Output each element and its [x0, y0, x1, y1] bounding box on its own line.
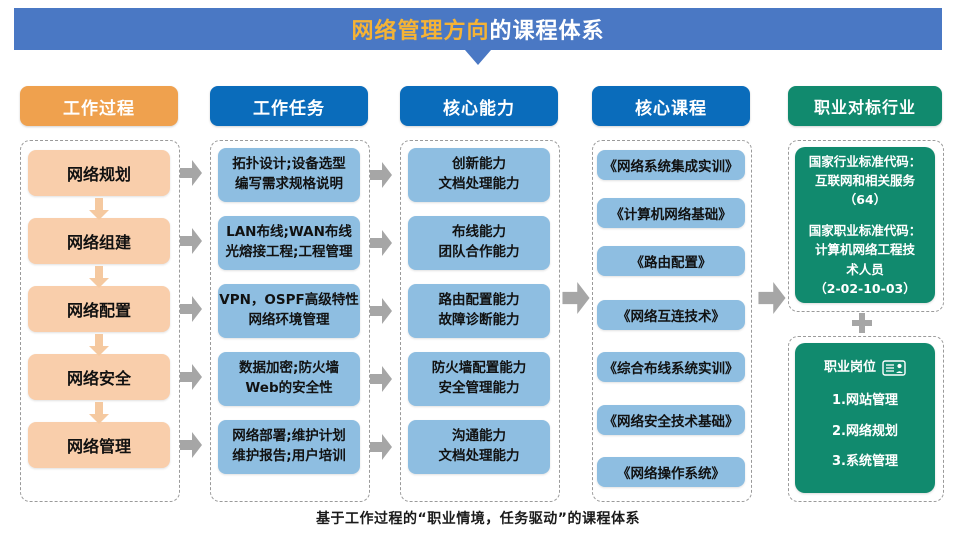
job-position-item: 3.系统管理: [832, 453, 898, 471]
core-ability-line1: 防火墙配置能力: [432, 359, 527, 379]
flow-arrow-icon: [370, 366, 392, 392]
flow-arrow-icon: [180, 364, 202, 390]
job-positions-box[interactable]: 职业岗位 1.网站管理 2.网络规划 3.系统管理: [795, 343, 935, 493]
core-ability-item[interactable]: 布线能力 团队合作能力: [408, 216, 550, 270]
plus-icon: [852, 313, 872, 333]
flow-arrow-icon: [180, 296, 202, 322]
work-task-item[interactable]: LAN布线;WAN布线 光熔接工程;工程管理: [218, 216, 360, 270]
flow-arrow-icon: [370, 162, 392, 188]
work-task-item[interactable]: 拓扑设计;设备选型 编写需求规格说明: [218, 148, 360, 202]
column-header-work-process[interactable]: 工作过程: [20, 86, 178, 126]
core-course-item[interactable]: 《计算机网络基础》: [597, 198, 745, 228]
work-task-line2: Web的安全性: [245, 379, 332, 399]
column-header-work-tasks[interactable]: 工作任务: [210, 86, 368, 126]
work-process-item[interactable]: 网络规划: [28, 150, 170, 196]
diagram-canvas: 网络管理方向的课程体系 工作过程 工作任务 核心能力 核心课程 职业对标行业 网…: [0, 0, 956, 536]
core-course-item[interactable]: 《网络操作系统》: [597, 457, 745, 487]
core-ability-line2: 故障诊断能力: [439, 311, 520, 331]
job-position-item: 2.网络规划: [832, 423, 898, 441]
flow-arrow-icon: [180, 160, 202, 186]
core-ability-item[interactable]: 防火墙配置能力 安全管理能力: [408, 352, 550, 406]
core-ability-item[interactable]: 路由配置能力 故障诊断能力: [408, 284, 550, 338]
occupation-code-label: 国家职业标准代码：: [809, 221, 922, 240]
flow-arrow-icon: [180, 228, 202, 254]
process-down-arrow-icon: [89, 334, 109, 356]
core-course-item[interactable]: 《网络互连技术》: [597, 300, 745, 330]
work-task-item[interactable]: 网络部署;维护计划 维护报告;用户培训: [218, 420, 360, 474]
work-task-line1: VPN，OSPF高级特性: [219, 291, 358, 311]
core-course-item[interactable]: 《综合布线系统实训》: [597, 352, 745, 382]
work-task-line1: 数据加密;防火墙: [239, 359, 339, 379]
title-highlight: 网络管理方向: [351, 19, 489, 44]
work-task-line1: 网络部署;维护计划: [232, 427, 345, 447]
flow-arrow-icon: [180, 432, 202, 458]
core-ability-line2: 团队合作能力: [439, 243, 520, 263]
process-down-arrow-icon: [89, 198, 109, 220]
core-ability-line2: 安全管理能力: [439, 379, 520, 399]
core-ability-item[interactable]: 沟通能力 文档处理能力: [408, 420, 550, 474]
core-ability-line1: 路由配置能力: [439, 291, 520, 311]
industry-code-label: 国家行业标准代码：: [809, 152, 922, 171]
work-task-line2: 光熔接工程;工程管理: [226, 243, 353, 263]
process-down-arrow-icon: [89, 402, 109, 424]
flow-arrow-icon: [370, 434, 392, 460]
column-header-core-courses[interactable]: 核心课程: [592, 86, 750, 126]
flow-arrow-icon: [370, 230, 392, 256]
occupation-code-value: （2-02-10-03）: [814, 279, 915, 298]
core-course-item[interactable]: 《网络系统集成实训》: [597, 150, 745, 180]
work-task-line2: 编写需求规格说明: [235, 175, 343, 195]
core-ability-line1: 沟通能力: [452, 427, 506, 447]
industry-code-value: （64）: [844, 190, 886, 209]
work-task-item[interactable]: 数据加密;防火墙 Web的安全性: [218, 352, 360, 406]
job-positions-title: 职业岗位: [824, 359, 876, 377]
title-banner: 网络管理方向的课程体系: [14, 8, 942, 50]
core-ability-line1: 创新能力: [452, 155, 506, 175]
core-ability-line2: 文档处理能力: [439, 447, 520, 467]
column-header-core-abilities[interactable]: 核心能力: [400, 86, 558, 126]
flow-arrow-icon-large: [562, 282, 590, 314]
occupation-code-name-line2: 术人员: [846, 260, 884, 279]
core-course-item[interactable]: 《网络安全技术基础》: [597, 405, 745, 435]
flow-arrow-icon: [370, 298, 392, 324]
process-down-arrow-icon: [89, 266, 109, 288]
id-badge-icon: [882, 360, 906, 376]
core-course-item[interactable]: 《路由配置》: [597, 246, 745, 276]
industry-code-name: 互联网和相关服务: [815, 171, 915, 190]
work-process-item[interactable]: 网络安全: [28, 354, 170, 400]
title-rest: 的课程体系: [490, 19, 605, 44]
page-title: 网络管理方向的课程体系: [351, 13, 604, 45]
work-task-line2: 维护报告;用户培训: [232, 447, 345, 467]
core-ability-item[interactable]: 创新能力 文档处理能力: [408, 148, 550, 202]
work-process-item[interactable]: 网络配置: [28, 286, 170, 332]
job-position-item: 1.网站管理: [832, 392, 898, 410]
work-task-line1: LAN布线;WAN布线: [226, 223, 352, 243]
core-ability-line2: 文档处理能力: [439, 175, 520, 195]
core-ability-line1: 布线能力: [452, 223, 506, 243]
work-task-line2: 网络环境管理: [249, 311, 330, 331]
work-task-line1: 拓扑设计;设备选型: [232, 155, 345, 175]
work-task-item[interactable]: VPN，OSPF高级特性 网络环境管理: [218, 284, 360, 338]
banner-down-arrow-icon: [465, 50, 491, 65]
flow-arrow-icon-large: [758, 282, 786, 314]
occupation-code-name-line1: 计算机网络工程技: [815, 240, 915, 259]
work-process-item[interactable]: 网络组建: [28, 218, 170, 264]
work-process-item[interactable]: 网络管理: [28, 422, 170, 468]
column-header-target-industry[interactable]: 职业对标行业: [788, 86, 942, 126]
industry-standard-box[interactable]: 国家行业标准代码： 互联网和相关服务 （64） 国家职业标准代码： 计算机网络工…: [795, 147, 935, 303]
footer-caption: 基于工作过程的“职业情境，任务驱动”的课程体系: [0, 508, 956, 528]
